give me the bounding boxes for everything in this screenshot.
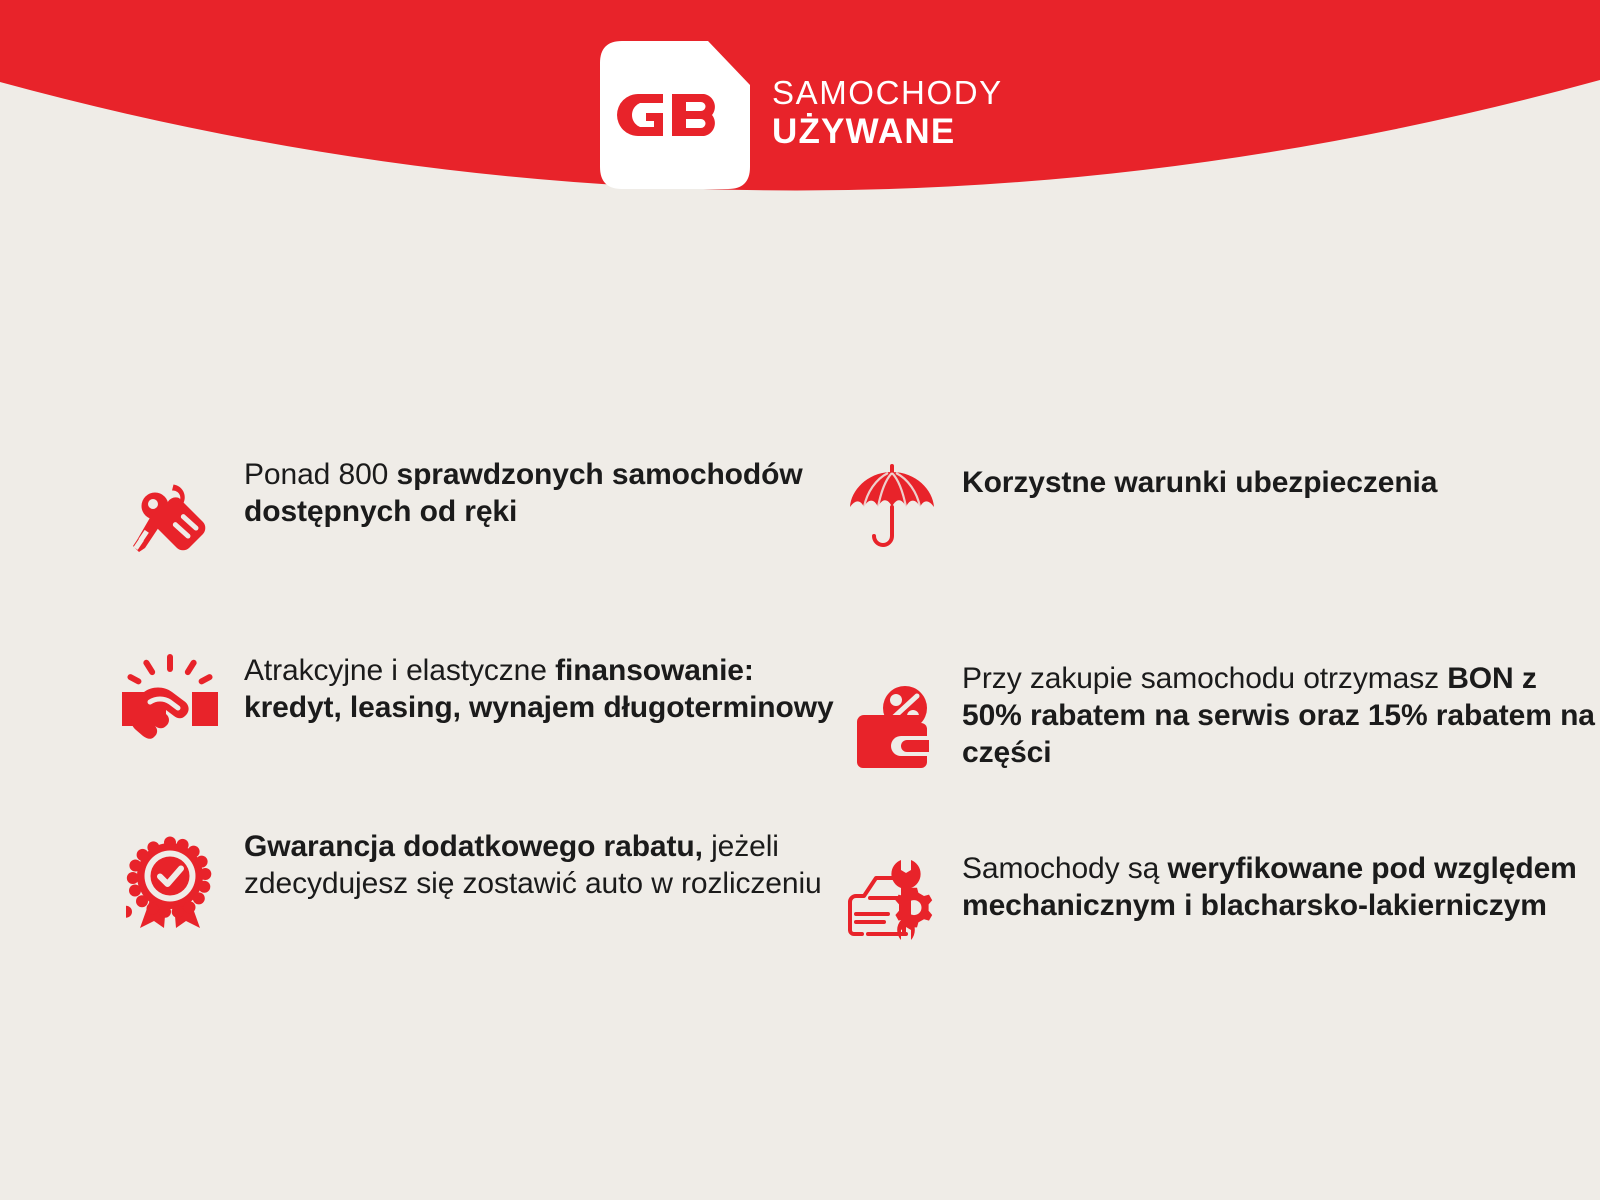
logo-card — [600, 41, 750, 189]
logo-lockup[interactable]: SAMOCHODY UŻYWANE — [600, 40, 1003, 190]
feature-text: Ponad 800 sprawdzonych samochodów dostęp… — [244, 454, 840, 530]
wallet-percent-icon — [840, 658, 944, 772]
feature-lead: Przy zakupie samochodu otrzymasz — [962, 662, 1447, 695]
feature-item: Przy zakupie samochodu otrzymasz BON z 5… — [840, 658, 1600, 772]
feature-lead: Ponad 800 — [244, 458, 396, 491]
feature-column-right: Korzystne warunki ubezpieczenia — [840, 440, 1600, 946]
feature-column-left: Ponad 800 sprawdzonych samochodów dostęp… — [120, 440, 840, 946]
feature-text: Gwarancja dodatkowego rabatu, jeżeli zde… — [244, 826, 840, 902]
feature-item: Atrakcyjne i elastyczne finansowanie: kr… — [120, 650, 840, 744]
feature-grid: Ponad 800 sprawdzonych samochodów dostęp… — [0, 440, 1600, 946]
feature-bold: Korzystne warunki ubezpieczenia — [962, 466, 1437, 499]
car-wrench-gear-icon — [840, 848, 944, 946]
feature-lead: Samochody są — [962, 852, 1167, 885]
feature-item: Gwarancja dodatkowego rabatu, jeżeli zde… — [120, 826, 840, 932]
feature-text: Przy zakupie samochodu otrzymasz BON z 5… — [962, 658, 1600, 771]
feature-item: Samochody są weryfikowane pod względem m… — [840, 848, 1600, 946]
wordmark-samochody: SAMOCHODY — [772, 74, 1003, 112]
feature-item: Korzystne warunki ubezpieczenia — [840, 462, 1600, 554]
feature-bold: Gwarancja dodatkowego rabatu, — [244, 830, 703, 863]
gb-logo-mark-icon — [600, 41, 750, 189]
feature-text: Korzystne warunki ubezpieczenia — [962, 462, 1437, 501]
key-with-tag-icon — [120, 454, 220, 562]
feature-text: Samochody są weryfikowane pod względem m… — [962, 848, 1600, 924]
umbrella-icon — [840, 462, 944, 554]
feature-item: Ponad 800 sprawdzonych samochodów dostęp… — [120, 454, 840, 562]
feature-text: Atrakcyjne i elastyczne finansowanie: kr… — [244, 650, 840, 726]
logo-wordmark: SAMOCHODY UŻYWANE — [772, 74, 1003, 156]
feature-lead: Atrakcyjne i elastyczne — [244, 654, 555, 687]
wordmark-uzywane: UŻYWANE — [772, 112, 1003, 152]
rosette-check-icon — [120, 826, 220, 932]
handshake-icon — [120, 650, 220, 744]
